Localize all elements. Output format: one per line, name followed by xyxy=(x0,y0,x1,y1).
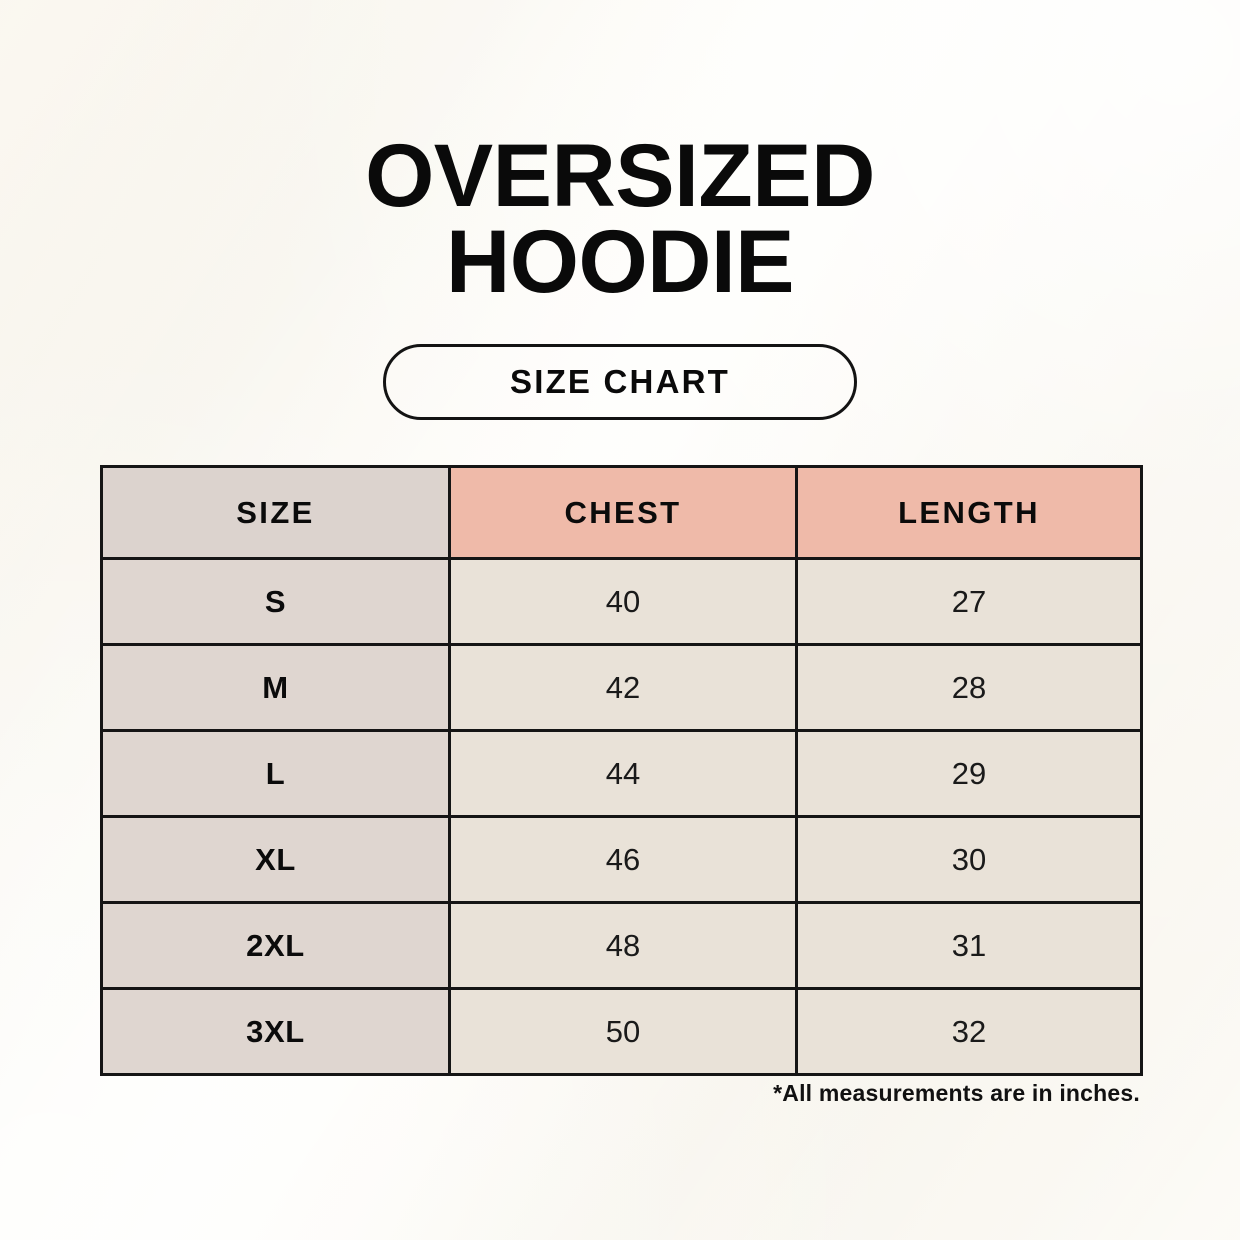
column-header-chest: CHEST xyxy=(450,467,797,559)
table-row: M 42 28 xyxy=(102,645,1142,731)
table-row: S 40 27 xyxy=(102,559,1142,645)
table-header: SIZE CHEST LENGTH xyxy=(102,467,1142,559)
size-chart-table: SIZE CHEST LENGTH S 40 27 M 42 28 L 44 2… xyxy=(100,465,1143,1076)
cell-size: M xyxy=(102,645,450,731)
cell-chest: 46 xyxy=(450,817,797,903)
cell-size: S xyxy=(102,559,450,645)
cell-length: 29 xyxy=(797,731,1142,817)
size-chart-page: OVERSIZED HOODIE SIZE CHART SIZE CHEST L… xyxy=(0,0,1240,1240)
cell-chest: 50 xyxy=(450,989,797,1075)
table-row: XL 46 30 xyxy=(102,817,1142,903)
cell-length: 32 xyxy=(797,989,1142,1075)
table-row: 2XL 48 31 xyxy=(102,903,1142,989)
cell-length: 27 xyxy=(797,559,1142,645)
cell-chest: 40 xyxy=(450,559,797,645)
column-header-length: LENGTH xyxy=(797,467,1142,559)
size-chart-badge: SIZE CHART xyxy=(383,344,857,420)
cell-size: L xyxy=(102,731,450,817)
cell-length: 31 xyxy=(797,903,1142,989)
cell-length: 28 xyxy=(797,645,1142,731)
column-header-size: SIZE xyxy=(102,467,450,559)
cell-size: 3XL xyxy=(102,989,450,1075)
cell-chest: 42 xyxy=(450,645,797,731)
cell-chest: 44 xyxy=(450,731,797,817)
badge-container: SIZE CHART xyxy=(0,344,1240,420)
cell-chest: 48 xyxy=(450,903,797,989)
table-body: S 40 27 M 42 28 L 44 29 XL 46 30 2XL 48 xyxy=(102,559,1142,1075)
page-title: OVERSIZED HOODIE xyxy=(0,132,1240,305)
measurement-footnote: *All measurements are in inches. xyxy=(0,1080,1140,1107)
table-row: 3XL 50 32 xyxy=(102,989,1142,1075)
cell-length: 30 xyxy=(797,817,1142,903)
cell-size: XL xyxy=(102,817,450,903)
table-header-row: SIZE CHEST LENGTH xyxy=(102,467,1142,559)
table-row: L 44 29 xyxy=(102,731,1142,817)
cell-size: 2XL xyxy=(102,903,450,989)
